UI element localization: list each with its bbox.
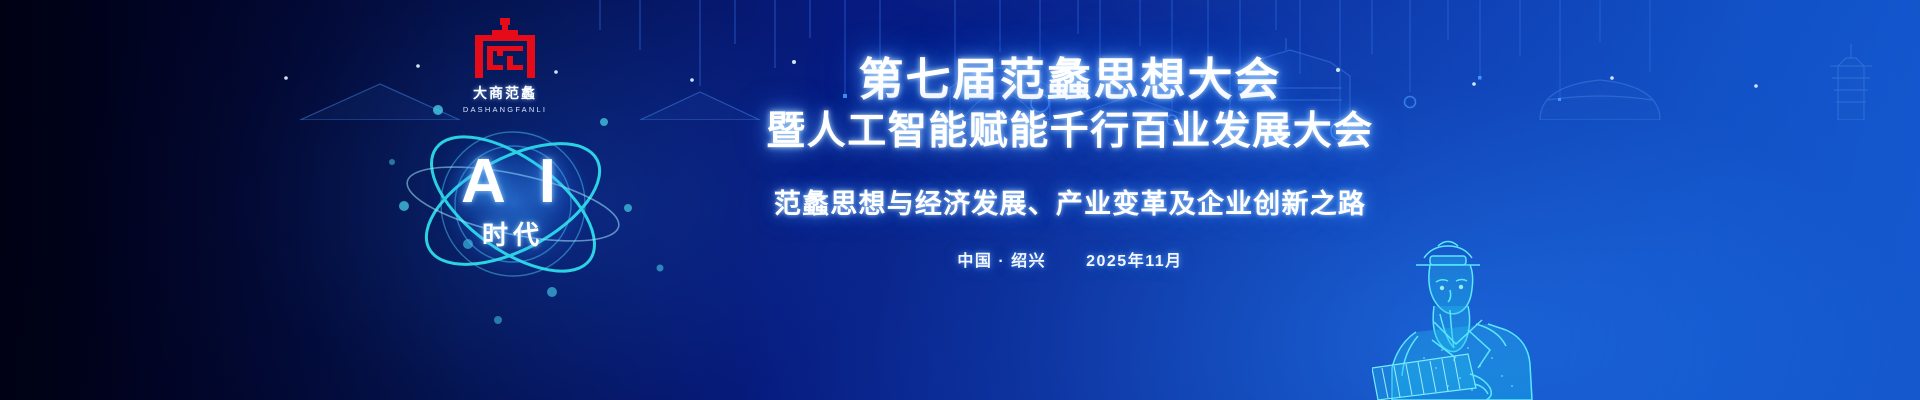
conference-subtitle: 范蠡思想与经济发展、产业变革及企业创新之路 xyxy=(700,182,1440,221)
logo-chinese-name: 大商范蠡 xyxy=(452,83,558,103)
ai-atom-orbit-graphic: A I 时代 xyxy=(388,92,638,312)
ai-era-text-group: A I 时代 xyxy=(388,92,638,312)
ai-letters: A I xyxy=(461,152,565,212)
conference-banner: 大商范蠡 DASHANGFANLI A I 时代 xyxy=(0,0,1920,400)
conference-title-line1: 第七届范蠡思想大会 xyxy=(700,54,1440,105)
ai-era-label: 时代 xyxy=(482,215,544,252)
conference-title-block: 第七届范蠡思想大会 暨人工智能赋能千行百业发展大会 范蠡思想与经济发展、产业变革… xyxy=(700,54,1440,271)
organization-logo[interactable]: 大商范蠡 DASHANGFANLI xyxy=(452,18,558,114)
logo-english-name: DASHANGFANLI xyxy=(452,105,558,114)
conference-meta-row: 中国 · 绍兴 2025年11月 xyxy=(700,247,1440,271)
conference-title-line2: 暨人工智能赋能千行百业发展大会 xyxy=(700,108,1440,156)
conference-date: 2025年11月 xyxy=(1086,247,1183,271)
dashangfanli-seal-logo-icon xyxy=(466,18,544,78)
conference-location: 中国 · 绍兴 xyxy=(957,247,1046,271)
